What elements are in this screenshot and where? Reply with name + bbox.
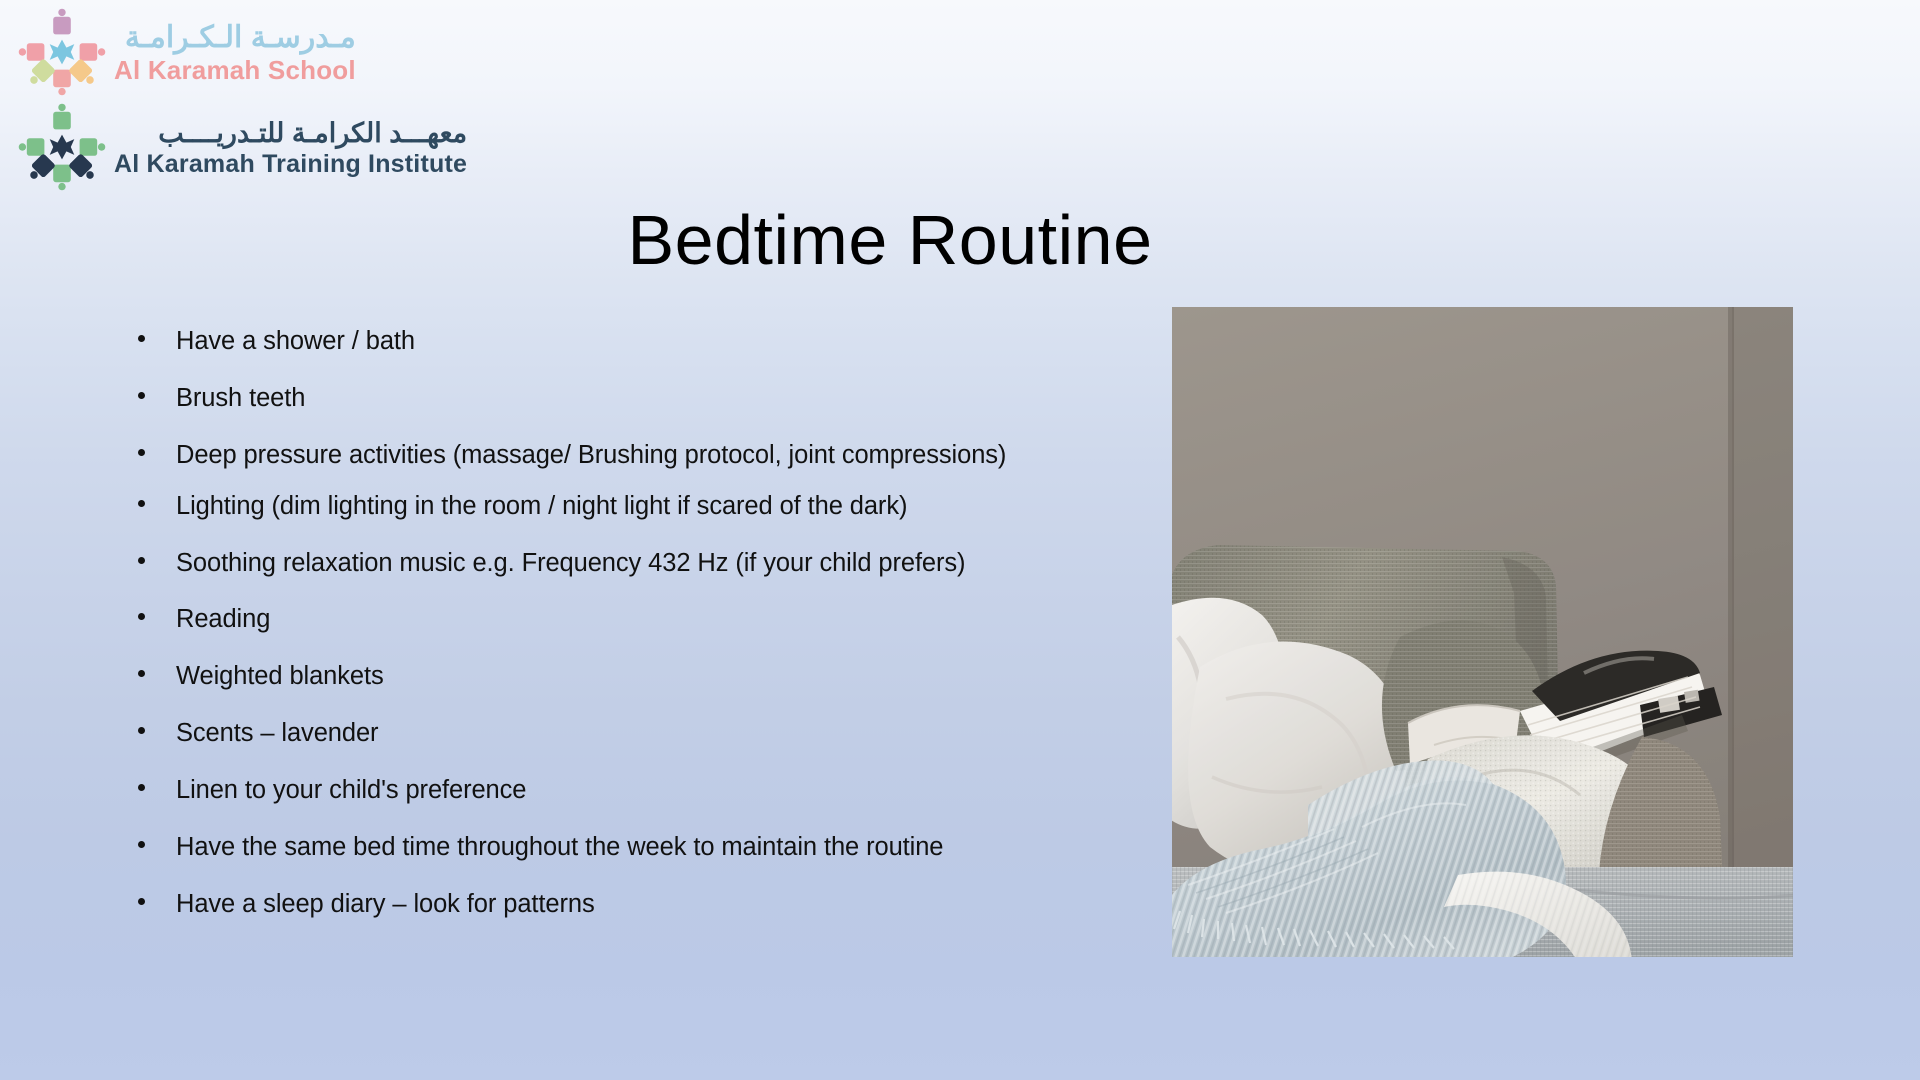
list-item-label: Brush teeth: [176, 384, 305, 412]
list-item: Have the same bed time throughout the we…: [128, 832, 1168, 864]
institute-name-english: Al Karamah Training Institute: [114, 150, 467, 179]
list-item-label: Have a sleep diary – look for patterns: [176, 890, 595, 918]
list-item-label: Lighting (dim lighting in the room / nig…: [176, 492, 907, 520]
bedtime-routine-list: Have a shower / bath Brush teeth Deep pr…: [128, 326, 1168, 946]
bullet-dot-icon: [138, 841, 145, 848]
list-item-label: Weighted blankets: [176, 662, 384, 690]
bullet-dot-icon: [138, 335, 145, 342]
bedroom-photo-illustration: [1172, 307, 1793, 957]
bullet-dot-icon: [138, 613, 145, 620]
list-item: Soothing relaxation music e.g. Frequency…: [128, 548, 1168, 580]
list-item: Deep pressure activities (massage/ Brush…: [128, 440, 1168, 472]
bullet-dot-icon: [138, 392, 145, 399]
institute-logo-row: معهـــد الكرامـة للتـدريــــب Al Karamah…: [18, 103, 658, 196]
list-item-label: Have a shower / bath: [176, 327, 415, 355]
bullet-dot-icon: [138, 557, 145, 564]
bullet-dot-icon: [138, 898, 145, 905]
list-item: Brush teeth: [128, 383, 1168, 415]
list-item-label: Linen to your child's preference: [176, 776, 526, 804]
institute-name-arabic: معهـــد الكرامـة للتـدريــــب: [114, 120, 467, 147]
school-name-english: Al Karamah School: [114, 56, 356, 86]
bullet-dot-icon: [138, 784, 145, 791]
school-name-arabic: مـدرسـة الـكـرامـة: [114, 23, 356, 53]
brand-logo-block: مـدرسـة الـكـرامـة Al Karamah School: [18, 8, 658, 196]
list-item: Scents – lavender: [128, 718, 1168, 750]
list-item: Have a sleep diary – look for patterns: [128, 889, 1168, 921]
mandala-logo-icon: [18, 103, 106, 196]
list-item-label: Have the same bed time throughout the we…: [176, 833, 943, 861]
mandala-logo-icon: [18, 8, 106, 101]
list-item-label: Soothing relaxation music e.g. Frequency…: [176, 549, 965, 577]
list-item-label: Deep pressure activities (massage/ Brush…: [176, 441, 1006, 469]
school-logo-row: مـدرسـة الـكـرامـة Al Karamah School: [18, 8, 658, 101]
bullet-dot-icon: [138, 449, 145, 456]
bullet-dot-icon: [138, 670, 145, 677]
page-title: Bedtime Routine: [0, 205, 1920, 275]
bullet-dot-icon: [138, 500, 145, 507]
bullet-dot-icon: [138, 727, 145, 734]
list-item: Reading: [128, 604, 1168, 636]
list-item: Weighted blankets: [128, 661, 1168, 693]
list-item: Have a shower / bath: [128, 326, 1168, 358]
list-item-label: Reading: [176, 605, 270, 633]
list-item: Linen to your child's preference: [128, 775, 1168, 807]
list-item: Lighting (dim lighting in the room / nig…: [128, 491, 1168, 523]
list-item-label: Scents – lavender: [176, 719, 378, 747]
page-title-text: Bedtime Routine: [627, 205, 1152, 275]
bedroom-photo: [1172, 307, 1793, 957]
